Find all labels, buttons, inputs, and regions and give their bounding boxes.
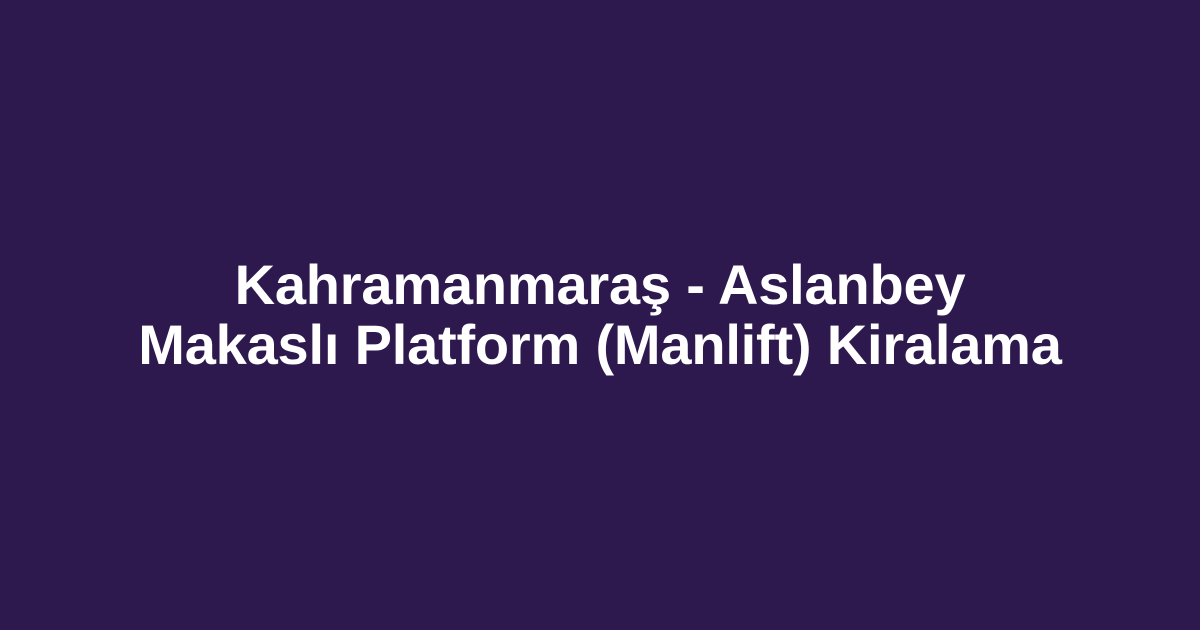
banner-content: Kahramanmaraş - Aslanbey Makaslı Platfor… [96,255,1104,375]
banner-card: Kahramanmaraş - Aslanbey Makaslı Platfor… [0,0,1200,630]
page-title: Kahramanmaraş - Aslanbey Makaslı Platfor… [135,255,1065,375]
